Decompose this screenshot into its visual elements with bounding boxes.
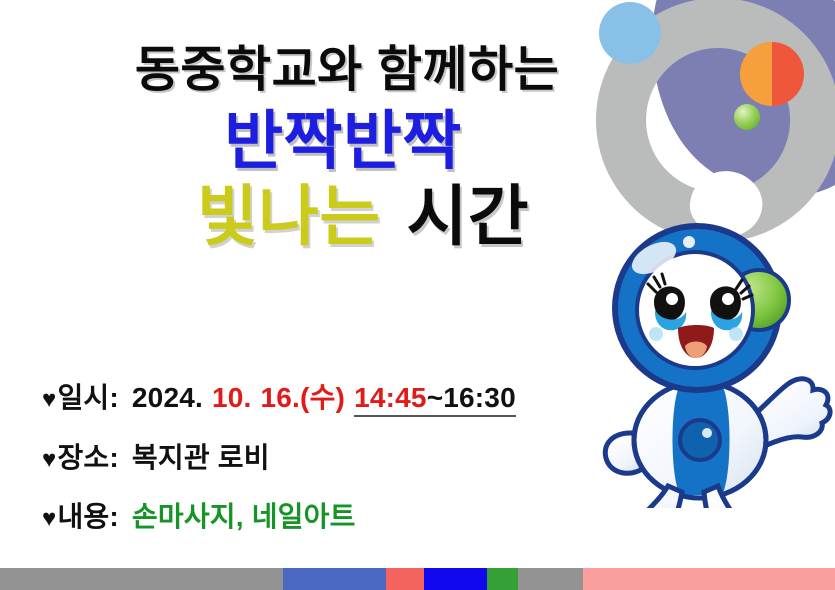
mascot-chest-highlight [702, 428, 712, 438]
detail-label-place: 장소: [57, 436, 118, 476]
title-line-3-rest: 시간 [407, 179, 529, 253]
bottom-bar-segment-salmon-red [386, 568, 424, 590]
detail-value-place: 복지관 로비 [132, 436, 270, 476]
poster-canvas: 동중학교와 함께하는 반짝반짝 빛나는시간 [0, 0, 835, 590]
title-line-3: 빛나는시간 [66, 183, 660, 249]
detail-row-place: ♥ 장소: 복지관 로비 [42, 436, 516, 476]
bottom-bar-segment-green [487, 568, 518, 590]
bottom-bar-segment-pink [583, 568, 835, 590]
bottom-color-bar [0, 568, 835, 590]
detail-value-month: 10. [212, 382, 252, 414]
mascot-helmet-dot [683, 236, 695, 248]
orange-circle-shape [740, 42, 804, 106]
poster-title: 동중학교와 함께하는 반짝반짝 빛나는시간 [0, 46, 660, 249]
title-line-1: 동중학교와 함께하는 [34, 46, 660, 95]
detail-row-date: ♥ 일시: 2024. 10. 16.(수) 14:45~16:30 [42, 376, 516, 417]
detail-row-content: ♥ 내용: 손마사지, 네일아트 [42, 495, 516, 535]
bottom-bar-segment-indigo [283, 568, 386, 590]
robot-mascot [592, 218, 835, 508]
bottom-bar-segment-gray-left [0, 568, 283, 590]
detail-value-day: 16.(수) [261, 376, 346, 416]
bottom-bar-segment-pure-blue [424, 568, 487, 590]
mascot-left-cheek [649, 327, 663, 341]
detail-label-date: 일시: [57, 376, 118, 416]
detail-value-year: 2024. [132, 382, 203, 414]
title-line-2: 반짝반짝 [26, 109, 660, 173]
green-sphere-shape [734, 104, 760, 130]
detail-value-content: 손마사지, 네일아트 [132, 495, 356, 535]
bottom-bar-segment-gray-mid [518, 568, 583, 590]
detail-value-time-start: 14:45 [354, 382, 427, 413]
heart-icon: ♥ [42, 388, 56, 412]
detail-label-content: 내용: [57, 495, 118, 535]
heart-icon: ♥ [42, 507, 56, 531]
heart-icon: ♥ [42, 448, 56, 472]
purple-blob-shape [652, 0, 835, 196]
detail-value-time-end: ~16:30 [427, 382, 516, 413]
detail-value-time: 14:45~16:30 [354, 382, 516, 417]
event-details: ♥ 일시: 2024. 10. 16.(수) 14:45~16:30 ♥ 장소:… [42, 376, 516, 554]
mascot-right-cheek [729, 327, 743, 341]
mascot-left-leg [629, 486, 682, 508]
mascot-chest-button [680, 420, 720, 460]
title-line-3-highlight: 빛나는 [197, 179, 381, 253]
